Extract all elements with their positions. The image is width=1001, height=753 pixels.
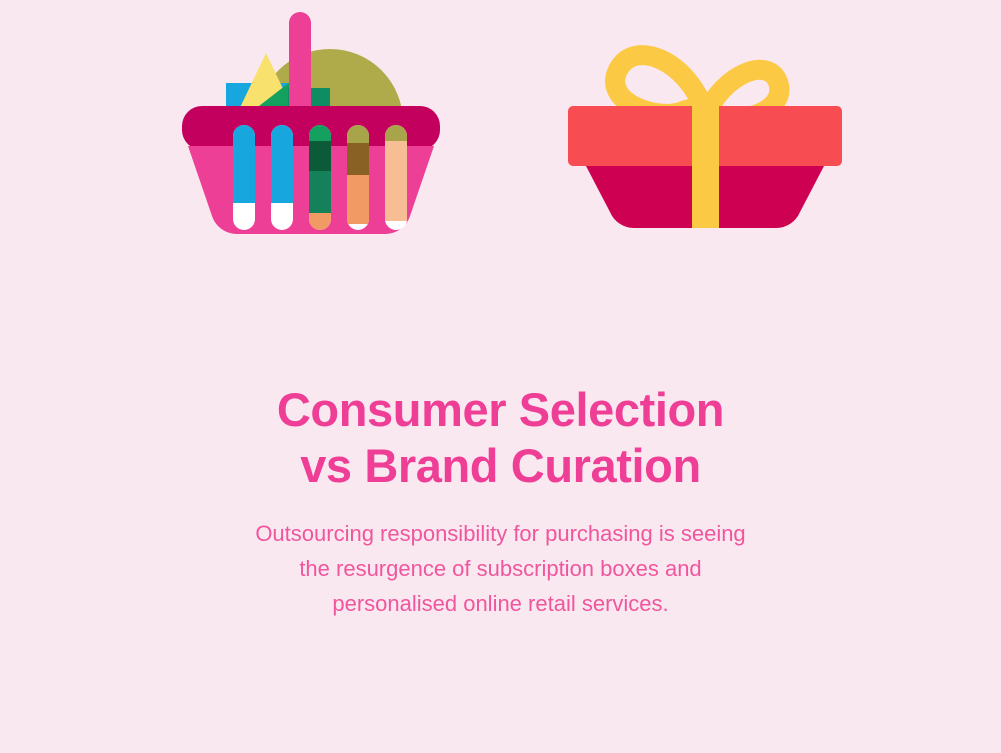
basket-slot-3 bbox=[309, 125, 331, 230]
basket-slot-1 bbox=[233, 125, 255, 230]
basket-slot-5 bbox=[385, 125, 407, 230]
basket-slot-4 bbox=[347, 125, 369, 230]
subhead-line-3: personalised online retail services. bbox=[0, 586, 1001, 621]
illustration-row bbox=[0, 0, 1001, 360]
gift-box-icon bbox=[560, 0, 850, 350]
text-block: Consumer Selection vs Brand Curation Out… bbox=[0, 382, 1001, 621]
headline-line-1: Consumer Selection bbox=[0, 382, 1001, 438]
gift-ribbon-vertical-body bbox=[692, 166, 719, 228]
page-title: Consumer Selection vs Brand Curation bbox=[0, 382, 1001, 494]
page-subtitle: Outsourcing responsibility for purchasin… bbox=[0, 494, 1001, 621]
subhead-line-2: the resurgence of subscription boxes and bbox=[0, 551, 1001, 586]
gift-ribbon-over-lid bbox=[692, 106, 719, 166]
slide-canvas: Consumer Selection vs Brand Curation Out… bbox=[0, 0, 1001, 753]
subhead-line-1: Outsourcing responsibility for purchasin… bbox=[0, 516, 1001, 551]
headline-line-2: vs Brand Curation bbox=[0, 438, 1001, 494]
basket-slot-2 bbox=[271, 125, 293, 230]
shopping-basket-icon bbox=[178, 0, 444, 350]
